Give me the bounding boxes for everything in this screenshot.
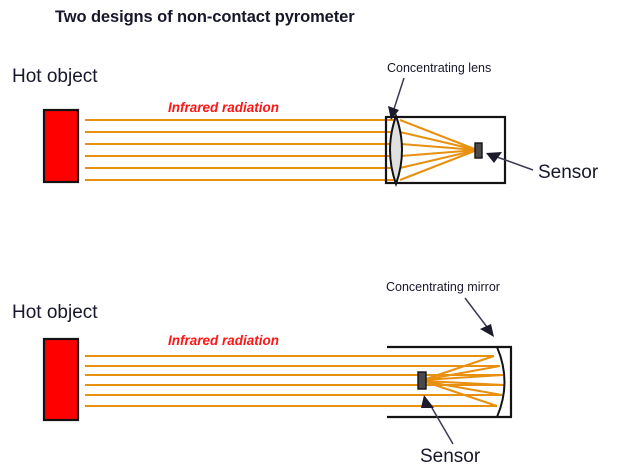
- concentrating-lens-label: Concentrating lens: [387, 61, 491, 75]
- sensor-label-top: Sensor: [538, 162, 599, 183]
- concentrating-mirror-shape: [497, 347, 505, 417]
- incoming-rays-top: [85, 120, 396, 180]
- sensor-leader-top: [497, 157, 533, 170]
- mirror-design-group: Hot object Infrared radiation: [12, 280, 512, 467]
- sensor-element-bottom: [418, 372, 426, 389]
- sensor-label-bottom: Sensor: [420, 446, 481, 467]
- sensor-leader-bottom: [432, 408, 453, 444]
- pyrometer-diagram-svg: Two designs of non-contact pyrometer Hot…: [0, 0, 620, 471]
- sensor-arrowhead-bottom: [421, 395, 434, 408]
- concentrating-mirror-leader: [465, 298, 487, 327]
- concentrating-lens-shape: [390, 116, 402, 184]
- lens-design-group: Hot object Infrared radiation: [12, 61, 599, 184]
- infrared-radiation-label-top: Infrared radiation: [168, 100, 279, 115]
- page-title: Two designs of non-contact pyrometer: [55, 8, 355, 26]
- concentrating-mirror-arrowhead: [480, 324, 494, 337]
- hot-object-label-bottom: Hot object: [12, 302, 98, 323]
- hot-object-block-bottom: [44, 339, 78, 420]
- diagram-canvas: Two designs of non-contact pyrometer Hot…: [0, 0, 620, 471]
- sensor-element-top: [475, 143, 482, 158]
- concentrating-lens-leader: [393, 78, 404, 112]
- pyrometer-housing-top: [386, 117, 505, 183]
- hot-object-block-top: [44, 110, 78, 182]
- concentrating-mirror-label: Concentrating mirror: [386, 280, 500, 294]
- reflected-rays-bottom: [423, 356, 504, 406]
- converging-rays-top: [400, 120, 477, 180]
- infrared-radiation-label-bottom: Infrared radiation: [168, 333, 279, 348]
- hot-object-label-top: Hot object: [12, 66, 98, 87]
